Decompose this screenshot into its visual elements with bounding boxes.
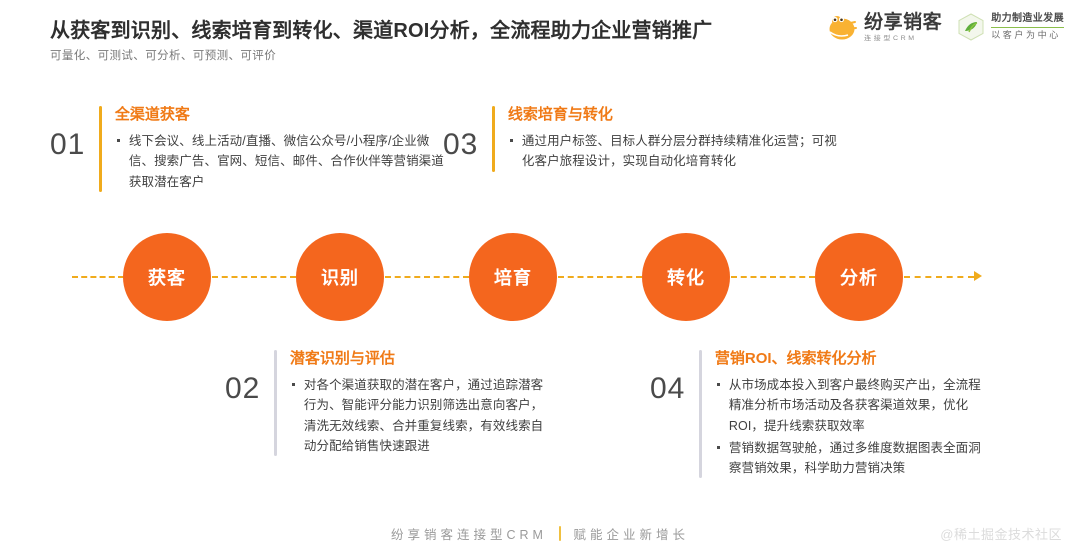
brand-logo-text: 纷享销客 连接型CRM [864, 13, 942, 42]
flow-connector [385, 276, 469, 278]
info-block-03: 03 线索培育与转化 通过用户标签、目标人群分层分群持续精准化运营；可视化客户旅… [443, 106, 843, 172]
flow-connector [72, 276, 124, 278]
info-block-02: 02 潜客识别与评估 对各个渠道获取的潜在客户，通过追踪潜客行为、智能评分能力识… [225, 350, 555, 456]
flow-connector [558, 276, 642, 278]
bullet-item: 线下会议、线上活动/直播、微信公众号/小程序/企业微信、搜索广告、官网、短信、邮… [115, 131, 450, 192]
flow-connector [904, 276, 974, 278]
flow-arrow-icon [974, 271, 982, 281]
flow-connector [212, 276, 296, 278]
hexagon-leaf-icon [956, 12, 986, 42]
bullet-item: 对各个渠道获取的潜在客户，通过追踪潜客行为、智能评分能力识别筛选出意向客户，清洗… [290, 375, 555, 456]
partner-tagline-primary: 助力制造业发展 [991, 13, 1064, 28]
partner-tagline-secondary: 以客户为中心 [991, 30, 1064, 41]
footer-divider [559, 526, 562, 541]
footer-tagline: 纷享销客连接型CRM 赋能企业新增长 [0, 524, 1080, 543]
brand-slogan: 连接型CRM [864, 35, 942, 41]
bullet-item: 通过用户标签、目标人群分层分群持续精准化运营；可视化客户旅程设计，实现自动化培育… [508, 131, 843, 172]
partner-logo: 助力制造业发展 以客户为中心 [956, 12, 1064, 42]
flow-node-acquire[interactable]: 获客 [123, 233, 211, 321]
block-number: 04 [650, 374, 685, 404]
block-title: 潜客识别与评估 [290, 350, 555, 368]
block-accent-rule [274, 350, 277, 456]
block-body: 营销ROI、线索转化分析 从市场成本投入到客户最终购买产出，全流程精准分析市场活… [715, 350, 990, 478]
flow-node-nurture[interactable]: 培育 [469, 233, 557, 321]
footer-text-left: 纷享销客连接型CRM [391, 524, 547, 543]
flow-node-analyze[interactable]: 分析 [815, 233, 903, 321]
flow-connector [731, 276, 815, 278]
watermark: @稀土掘金技术社区 [940, 524, 1062, 543]
bullet-item: 营销数据驾驶舱，通过多维度数据图表全面洞察营销效果，科学助力营销决策 [715, 438, 990, 479]
bullet-item: 从市场成本投入到客户最终购买产出，全流程精准分析市场活动及各获客渠道效果，优化R… [715, 375, 990, 436]
brand-logo: 纷享销客 连接型CRM [824, 12, 942, 42]
brand-name: 纷享销客 [864, 13, 942, 32]
bullet-list: 对各个渠道获取的潜在客户，通过追踪潜客行为、智能评分能力识别筛选出意向客户，清洗… [290, 375, 555, 456]
info-block-01: 01 全渠道获客 线下会议、线上活动/直播、微信公众号/小程序/企业微信、搜索广… [50, 106, 450, 192]
footer-text-right: 赋能企业新增长 [573, 524, 689, 543]
block-accent-rule [99, 106, 102, 192]
block-number: 03 [443, 130, 478, 160]
partner-logo-text: 助力制造业发展 以客户为中心 [991, 13, 1064, 41]
block-body: 线索培育与转化 通过用户标签、目标人群分层分群持续精准化运营；可视化客户旅程设计… [508, 106, 843, 172]
process-flow: 获客 识别 培育 转化 分析 [0, 231, 1080, 323]
flow-node-identify[interactable]: 识别 [296, 233, 384, 321]
bullet-list: 通过用户标签、目标人群分层分群持续精准化运营；可视化客户旅程设计，实现自动化培育… [508, 131, 843, 172]
block-number: 02 [225, 374, 260, 404]
block-body: 潜客识别与评估 对各个渠道获取的潜在客户，通过追踪潜客行为、智能评分能力识别筛选… [290, 350, 555, 456]
block-number: 01 [50, 130, 85, 160]
page-subtitle: 可量化、可测试、可分析、可预测、可评价 [50, 47, 276, 63]
block-title: 全渠道获客 [115, 106, 450, 124]
block-title: 营销ROI、线索转化分析 [715, 350, 990, 368]
flow-node-convert[interactable]: 转化 [642, 233, 730, 321]
bullet-list: 从市场成本投入到客户最终购买产出，全流程精准分析市场活动及各获客渠道效果，优化R… [715, 375, 990, 478]
bullet-list: 线下会议、线上活动/直播、微信公众号/小程序/企业微信、搜索广告、官网、短信、邮… [115, 131, 450, 192]
slide-canvas: 从获客到识别、线索培育到转化、渠道ROI分析，全流程助力企业营销推广 可量化、可… [0, 0, 1080, 552]
logo-group: 纷享销客 连接型CRM 助力制造业发展 以客户为中心 [824, 12, 1064, 42]
block-title: 线索培育与转化 [508, 106, 843, 124]
bee-mascot-icon [824, 12, 858, 42]
block-accent-rule [699, 350, 702, 478]
block-accent-rule [492, 106, 495, 172]
page-title: 从获客到识别、线索培育到转化、渠道ROI分析，全流程助力企业营销推广 [50, 14, 712, 43]
block-body: 全渠道获客 线下会议、线上活动/直播、微信公众号/小程序/企业微信、搜索广告、官… [115, 106, 450, 192]
info-block-04: 04 营销ROI、线索转化分析 从市场成本投入到客户最终购买产出，全流程精准分析… [650, 350, 990, 478]
